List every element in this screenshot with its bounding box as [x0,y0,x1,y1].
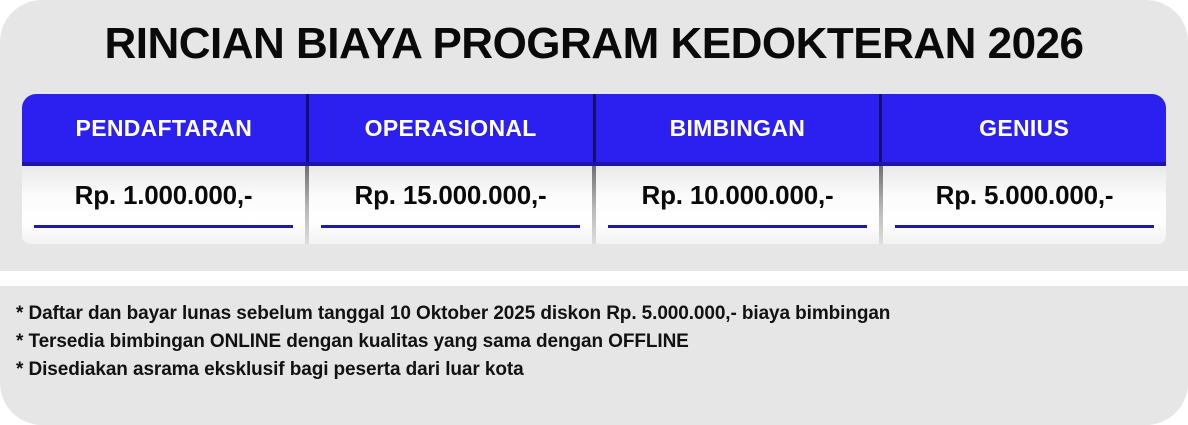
price-underline [608,225,867,228]
fee-table: PENDAFTARAN OPERASIONAL BIMBINGAN GENIUS… [22,94,1166,244]
fee-column-header-genius[interactable]: GENIUS [879,94,1166,162]
fee-table-price-row: Rp. 1.000.000,- Rp. 15.000.000,- Rp. 10.… [22,166,1166,244]
page-title: RINCIAN BIAYA PROGRAM KEDOKTERAN 2026 [0,18,1188,70]
fee-table-header-row: PENDAFTARAN OPERASIONAL BIMBINGAN GENIUS [22,94,1166,166]
fee-poster: RINCIAN BIAYA PROGRAM KEDOKTERAN 2026 PE… [0,0,1188,425]
fee-price-cell-bimbingan: Rp. 10.000.000,- [592,166,879,244]
note-line-3: * Disediakan asrama eksklusif bagi peser… [16,356,1188,384]
fee-column-header-label: PENDAFTARAN [76,115,253,142]
fee-price-cell-operasional: Rp. 15.000.000,- [305,166,592,244]
fee-price-cell-pendaftaran: Rp. 1.000.000,- [22,166,305,244]
fee-column-header-label: GENIUS [979,115,1069,142]
fee-column-header-label: BIMBINGAN [670,115,806,142]
note-line-2: * Tersedia bimbingan ONLINE dengan kuali… [16,328,1188,356]
fee-price-value: Rp. 10.000.000,- [642,180,834,211]
fee-price-value: Rp. 5.000.000,- [936,180,1114,211]
note-line-1: * Daftar dan bayar lunas sebelum tanggal… [16,300,1188,328]
price-underline [321,225,580,228]
fee-price-value: Rp. 15.000.000,- [355,180,547,211]
fee-column-header-bimbingan[interactable]: BIMBINGAN [593,94,880,162]
fee-column-header-label: OPERASIONAL [365,115,537,142]
fee-price-cell-genius: Rp. 5.000.000,- [879,166,1166,244]
notes-panel: * Daftar dan bayar lunas sebelum tanggal… [0,286,1188,425]
fee-price-value: Rp. 1.000.000,- [75,180,253,211]
price-underline [895,225,1154,228]
price-underline [34,225,293,228]
fee-column-header-operasional[interactable]: OPERASIONAL [306,94,593,162]
fee-column-header-pendaftaran[interactable]: PENDAFTARAN [22,94,306,162]
top-panel: RINCIAN BIAYA PROGRAM KEDOKTERAN 2026 PE… [0,0,1188,271]
